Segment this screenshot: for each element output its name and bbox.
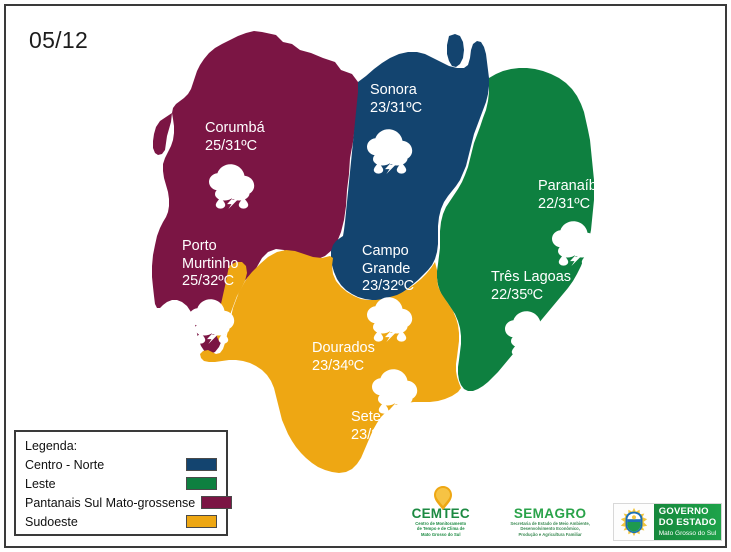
legend-title: Legenda: (25, 439, 217, 453)
city-label-tres-lagoas: Três Lagoas 22/35ºC (491, 269, 571, 304)
city-label-porto-murtinho: Porto Murtinho 25/32ºC (182, 238, 254, 291)
legend-label-leste: Leste (25, 477, 56, 491)
legend-box: Legenda: Centro - Norte Leste Pantanais … (14, 430, 228, 536)
semagro-logo[interactable]: SEMAGRO Secretaria de Estado de Meio Amb… (497, 507, 602, 537)
legend-label-pantanais: Pantanais Sul Mato-grossense (25, 496, 195, 510)
semagro-sub-3: Produção e Agricultura Familiar (497, 532, 602, 537)
legend-swatch-centro-norte (186, 458, 217, 471)
city-temp-paranaiba: 22/31ºC (538, 196, 605, 214)
legend-swatch-pantanais (201, 496, 232, 509)
cemtec-logo[interactable]: CEMTEC Centro de Monitoramento de Tempo … (392, 507, 489, 537)
cemtec-mark-icon (430, 485, 456, 511)
city-name-sonora: Sonora (370, 82, 422, 100)
governo-line-2: DO ESTADO (659, 518, 721, 529)
city-label-campo-grande: Campo Grande 23/32ºC (362, 243, 424, 296)
cemtec-sub-3: Mato Grosso do Sul (392, 532, 489, 537)
city-name-corumba: Corumbá (205, 120, 265, 138)
legend-row-centro-norte[interactable]: Centro - Norte (25, 455, 217, 474)
governo-do-estado-logo[interactable]: GOVERNO DO ESTADO Mato Grosso do Sul (613, 503, 722, 541)
logo-bar: CEMTEC Centro de Monitoramento de Tempo … (392, 500, 722, 544)
governo-text-block: GOVERNO DO ESTADO Mato Grosso do Sul (654, 504, 721, 540)
region-pantanais-west-spur (153, 113, 172, 155)
legend-row-pantanais[interactable]: Pantanais Sul Mato-grossense (25, 493, 217, 512)
legend-label-centro-norte: Centro - Norte (25, 458, 104, 472)
city-temp-sete-quedas: 23/35ºC (351, 427, 436, 445)
legend-swatch-sudoeste (186, 515, 217, 528)
governo-line-1: GOVERNO (659, 507, 721, 518)
city-name-paranaiba: Paranaíba (538, 178, 605, 196)
city-temp-porto-murtinho: 25/32ºC (182, 273, 254, 291)
legend-row-sudoeste[interactable]: Sudoeste (25, 512, 217, 531)
city-label-sonora: Sonora 23/31ºC (370, 82, 422, 117)
city-temp-sonora: 23/31ºC (370, 100, 422, 118)
weather-icon-sete-quedas (367, 453, 412, 498)
city-label-corumba: Corumbá 25/31ºC (205, 120, 265, 155)
semagro-title: SEMAGRO (497, 507, 602, 521)
region-centro-norte-north-spur (447, 34, 464, 67)
city-label-sete-quedas: Sete Quedas 23/35ºC (351, 409, 436, 444)
weather-map-page: 05/12 (0, 0, 731, 552)
city-temp-campo-grande: 23/32ºC (362, 278, 424, 296)
legend-swatch-leste (186, 477, 217, 490)
city-temp-dourados: 23/34ºC (312, 358, 375, 376)
legend-label-sudoeste: Sudoeste (25, 515, 78, 529)
city-name-dourados: Dourados (312, 340, 375, 358)
city-label-paranaiba: Paranaíba 22/31ºC (538, 178, 605, 213)
legend-row-leste[interactable]: Leste (25, 474, 217, 493)
city-name-porto-murtinho: Porto Murtinho (182, 238, 254, 273)
city-name-sete-quedas: Sete Quedas (351, 409, 436, 427)
coat-of-arms-icon (618, 506, 650, 538)
brasao-icon (614, 504, 654, 540)
city-temp-tres-lagoas: 22/35ºC (491, 287, 571, 305)
city-name-tres-lagoas: Três Lagoas (491, 269, 571, 287)
city-name-campo-grande: Campo Grande (362, 243, 424, 278)
governo-line-3: Mato Grosso do Sul (659, 529, 721, 538)
city-temp-corumba: 25/31ºC (205, 138, 265, 156)
city-label-dourados: Dourados 23/34ºC (312, 340, 375, 375)
